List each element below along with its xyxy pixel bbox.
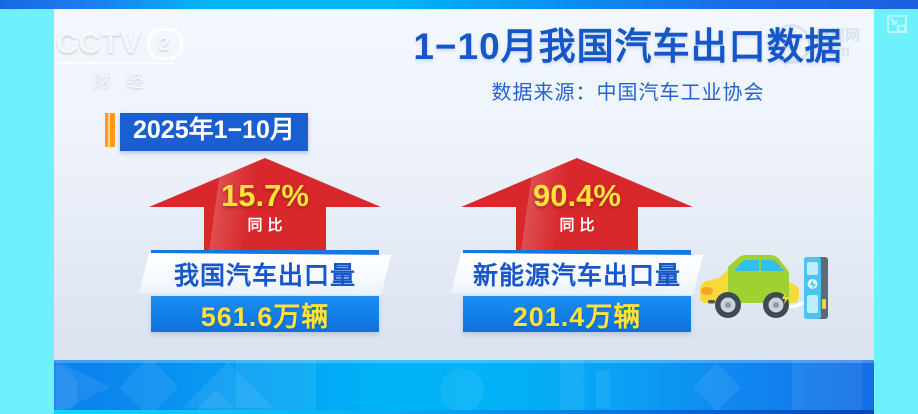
- band-top-edge: [0, 360, 918, 363]
- left-cyan-bar: [0, 9, 54, 414]
- band-shape-bar: [560, 360, 584, 414]
- stat-value: 561.6万辆: [201, 295, 330, 334]
- cctv-logo-text: CCTV: [56, 29, 142, 59]
- band-shape-block: [236, 360, 316, 414]
- bottom-decorative-band: [0, 360, 918, 414]
- up-arrow-graphic: 90.4% 同比: [461, 158, 693, 250]
- infographic-stage: 央视网 .com CCTV 2 财经 1−10月我国汽车出口数据 数据来源：中国…: [0, 0, 918, 414]
- stat-block-total-exports: 15.7% 同比 我国汽车出口量 561.6万辆: [120, 158, 410, 332]
- band-shape-diamond: [119, 360, 178, 414]
- band-shape-diamond-2: [693, 363, 741, 411]
- badge-accent-bar: [105, 113, 115, 147]
- cctv2-logo: CCTV 2 财经: [56, 28, 183, 92]
- band-shape-block-2: [792, 360, 862, 414]
- cctv-logo-underline: [56, 62, 174, 64]
- page-title: 1−10月我国汽车出口数据: [398, 26, 858, 69]
- top-color-strip: [0, 0, 918, 9]
- stat-block-nev-exports: 90.4% 同比 新能源汽车出口量 201.4万辆: [432, 158, 722, 332]
- picture-in-picture-icon[interactable]: [886, 14, 908, 34]
- stat-percent: 90.4%: [461, 178, 693, 214]
- stat-label: 新能源汽车出口量: [473, 256, 681, 292]
- right-cyan-bar: [874, 9, 918, 414]
- band-hairline: [0, 410, 918, 414]
- page-subtitle: 数据来源：中国汽车工业协会: [398, 76, 858, 105]
- up-arrow-graphic: 15.7% 同比: [149, 158, 381, 250]
- band-shape-circle-2: [440, 368, 484, 412]
- stat-label-plate: 我国汽车出口量: [139, 253, 391, 295]
- header-block: 1−10月我国汽车出口数据 数据来源：中国汽车工业协会: [398, 26, 858, 105]
- stat-percent: 15.7%: [149, 178, 381, 214]
- cctv-channel-subtitle: 财经: [56, 67, 183, 92]
- stat-value-bar: 561.6万辆: [151, 296, 379, 332]
- band-shape-arrow: [56, 360, 110, 414]
- stat-value-bar: 201.4万辆: [463, 296, 691, 332]
- stat-label: 我国汽车出口量: [174, 256, 356, 292]
- cctv-channel-number: 2: [147, 28, 183, 60]
- electric-car-charging-icon: [692, 243, 842, 323]
- stat-percent-caption: 同比: [149, 214, 381, 235]
- period-badge: 2025年1−10月: [105, 113, 308, 151]
- period-badge-label: 2025年1−10月: [120, 113, 308, 151]
- stat-percent-caption: 同比: [461, 214, 693, 235]
- band-shape-bar-2: [596, 370, 610, 408]
- stat-label-plate: 新能源汽车出口量: [451, 253, 703, 295]
- stat-value: 201.4万辆: [513, 295, 642, 334]
